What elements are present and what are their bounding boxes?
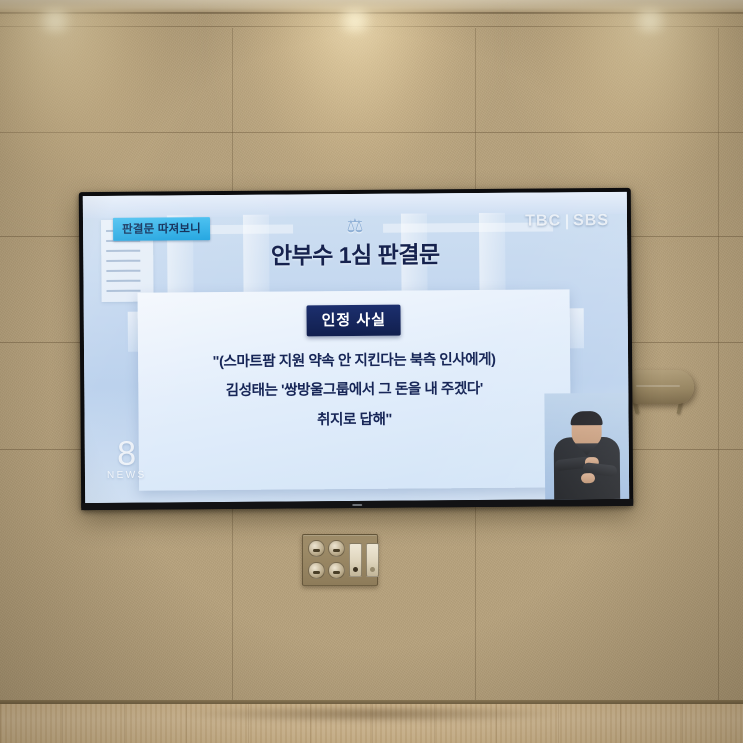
spotlight-hotspot — [627, 8, 673, 34]
news-watermark: 8 NEWS — [107, 439, 147, 481]
quote-card-badge: 인정 사실 — [306, 305, 401, 337]
quote-card: 인정 사실 "(스마트팜 지원 약속 안 지킨다는 북측 인사에게) 김성태는 … — [138, 289, 572, 490]
dial-4[interactable] — [328, 562, 345, 579]
tv-power-led — [352, 504, 362, 506]
rocker-switch-on[interactable] — [349, 543, 362, 577]
floor-shadow — [108, 706, 638, 726]
broadcast-headline: 안부수 1심 판결문 — [83, 234, 627, 272]
spotlight-hotspot — [32, 8, 78, 34]
wall-seam-vertical — [718, 28, 719, 718]
quote-line-2: 김성태는 '쌍방울그룹에서 그 돈을 내 주겠다' — [138, 375, 570, 408]
quote-line-3: 취지로 답해" — [138, 404, 570, 437]
sign-language-interpreter — [544, 393, 629, 500]
dial-1[interactable] — [308, 540, 325, 557]
news-watermark-number: 8 — [107, 439, 147, 469]
interpreter-hand-lower — [581, 473, 595, 483]
dial-3[interactable] — [308, 562, 325, 579]
wall-mounted-television[interactable]: ⚖ 판결문 따져보니 TBC SBS 안부수 1심 판결문 인정 사실 — [79, 188, 633, 510]
quote-line-1: "(스마트팜 지원 약속 안 지킨다는 북측 인사에게) — [138, 345, 570, 378]
rocker-switch-off[interactable] — [366, 543, 379, 577]
dial-2[interactable] — [328, 540, 345, 557]
network-logo-separator-icon — [566, 214, 568, 229]
network-logo: TBC SBS — [525, 212, 609, 231]
room-scene: ⚖ 판결문 따져보니 TBC SBS 안부수 1심 판결문 인정 사실 — [0, 0, 743, 743]
light-switch-panel[interactable] — [302, 534, 378, 586]
wall-seam — [0, 132, 743, 133]
network-logo-sbs: SBS — [573, 212, 609, 230]
switch-rocker-group — [345, 543, 379, 577]
wall-speaker-device — [622, 370, 694, 404]
network-logo-tbc: TBC — [525, 212, 561, 230]
interpreter-hair — [570, 411, 602, 425]
tv-screen[interactable]: ⚖ 판결문 따져보니 TBC SBS 안부수 1심 판결문 인정 사실 — [83, 192, 629, 503]
quote-card-text: "(스마트팜 지원 약속 안 지킨다는 북측 인사에게) 김성태는 '쌍방울그룹… — [138, 345, 571, 436]
news-watermark-label: NEWS — [107, 470, 147, 481]
court-emblem-icon: ⚖ — [340, 216, 370, 238]
spotlight-hotspot — [332, 8, 378, 34]
switch-dial-group — [303, 540, 345, 580]
